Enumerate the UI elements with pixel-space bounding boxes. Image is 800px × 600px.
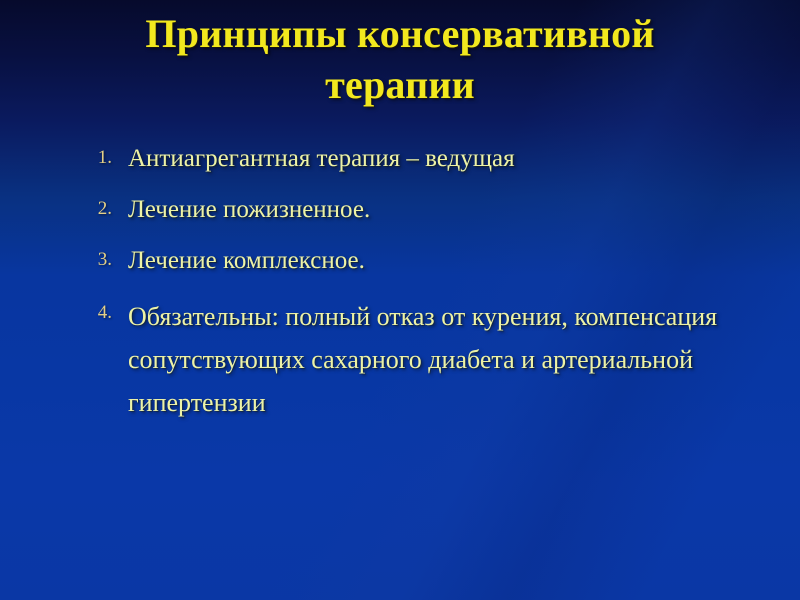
list-item-text: Обязательны: полный отказ от курения, ко…: [128, 295, 728, 424]
slide-content: Принципы консервативной терапии 1. Антиа…: [0, 0, 800, 600]
list-item: 2. Лечение пожизненное.: [78, 193, 728, 227]
list-item-text: Лечение комплексное.: [128, 244, 728, 278]
list-item-number: 2.: [78, 197, 112, 221]
slide-title-line-1: Принципы консервативной: [0, 8, 800, 59]
list-item: 4. Обязательны: полный отказ от курения,…: [78, 295, 728, 424]
numbered-list: 1. Антиагрегантная терапия – ведущая 2. …: [78, 142, 728, 434]
list-item-number: 3.: [78, 248, 112, 272]
slide-title-line-2: терапии: [0, 59, 800, 110]
slide-title: Принципы консервативной терапии: [0, 8, 800, 110]
list-item: 3. Лечение комплексное.: [78, 244, 728, 278]
list-item-text: Лечение пожизненное.: [128, 193, 728, 227]
list-item: 1. Антиагрегантная терапия – ведущая: [78, 142, 728, 176]
list-item-text: Антиагрегантная терапия – ведущая: [128, 142, 728, 176]
list-item-number: 1.: [78, 146, 112, 170]
list-item-number: 4.: [78, 301, 112, 325]
presentation-slide: Принципы консервативной терапии 1. Антиа…: [0, 0, 800, 600]
